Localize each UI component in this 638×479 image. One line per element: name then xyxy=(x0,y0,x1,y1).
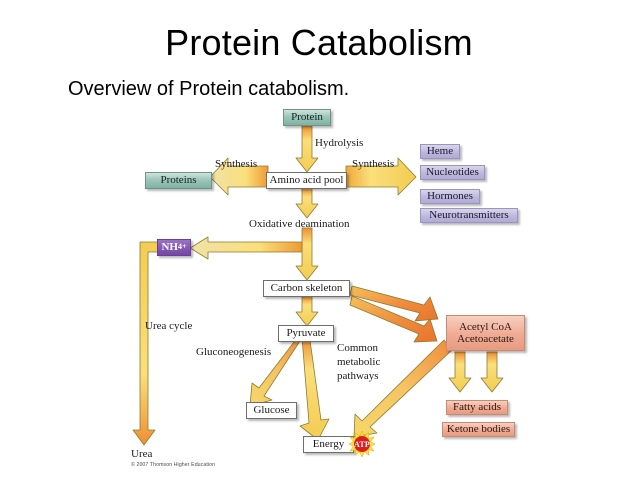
node-proteins-label: Proteins xyxy=(160,174,196,186)
copyright-notice: © 2007 Thomson Higher Education xyxy=(131,462,215,468)
node-ketone-bodies[interactable]: Ketone bodies xyxy=(442,422,515,437)
node-pyruvate[interactable]: Pyruvate xyxy=(278,325,334,342)
node-fatty-acids[interactable]: Fatty acids xyxy=(446,400,508,415)
protein-catabolism-diagram: Protein Proteins Amino acid pool Heme Nu… xyxy=(0,100,638,479)
node-energy-label: Energy xyxy=(313,438,345,450)
node-acetyl-coa-label: Acetyl CoA xyxy=(459,321,512,333)
node-ammonium-label: NH xyxy=(161,241,178,253)
node-hormones[interactable]: Hormones xyxy=(420,189,480,204)
node-protein-label: Protein xyxy=(291,111,323,123)
node-heme-label: Heme xyxy=(427,145,453,157)
node-neurotransmitters-label: Neurotransmitters xyxy=(429,209,508,221)
node-heme[interactable]: Heme xyxy=(420,144,460,159)
node-acetyl-coa[interactable]: Acetyl CoA Acetoacetate xyxy=(446,315,525,351)
node-protein[interactable]: Protein xyxy=(283,109,331,126)
node-amino-acid-pool-label: Amino acid pool xyxy=(270,174,344,186)
node-glucose[interactable]: Glucose xyxy=(246,402,297,419)
node-fatty-acids-label: Fatty acids xyxy=(453,401,501,413)
node-nucleotides-label: Nucleotides xyxy=(426,166,479,178)
node-carbon-skeleton[interactable]: Carbon skeleton xyxy=(263,280,350,297)
atp-badge: ATP xyxy=(349,431,375,457)
node-nucleotides[interactable]: Nucleotides xyxy=(420,165,485,180)
edge-label-urea-cycle: Urea cycle xyxy=(145,320,192,334)
edge-label-hydrolysis: Hydrolysis xyxy=(315,137,363,151)
edge-label-oxidative-deamination: Oxidative deamination xyxy=(249,218,350,232)
node-ammonium[interactable]: NH4+ xyxy=(157,239,191,256)
node-hormones-label: Hormones xyxy=(427,190,473,202)
node-glucose-label: Glucose xyxy=(253,404,289,416)
node-energy[interactable]: Energy xyxy=(303,436,354,453)
page-subtitle: Overview of Protein catabolism. xyxy=(68,78,349,101)
atp-label: ATP xyxy=(349,431,375,457)
node-ketone-bodies-label: Ketone bodies xyxy=(447,423,510,435)
node-neurotransmitters[interactable]: Neurotransmitters xyxy=(420,208,518,223)
node-amino-acid-pool[interactable]: Amino acid pool xyxy=(266,172,347,189)
edge-label-gluconeogenesis: Gluconeogenesis xyxy=(196,346,271,360)
node-proteins[interactable]: Proteins xyxy=(145,172,212,189)
node-pyruvate-label: Pyruvate xyxy=(286,327,325,339)
slide: Protein Catabolism Overview of Protein c… xyxy=(0,0,638,479)
node-carbon-skeleton-label: Carbon skeleton xyxy=(271,282,343,294)
edge-label-urea: Urea xyxy=(131,448,152,462)
node-ammonium-superscript: + xyxy=(182,243,187,252)
edge-label-common-metabolic-pathways: Common metabolic pathways xyxy=(337,342,391,383)
edge-label-synthesis-left: Synthesis xyxy=(215,158,257,172)
node-acetoacetate-label: Acetoacetate xyxy=(457,333,514,345)
page-title: Protein Catabolism xyxy=(0,22,638,64)
edge-label-synthesis-right: Synthesis xyxy=(352,158,394,172)
